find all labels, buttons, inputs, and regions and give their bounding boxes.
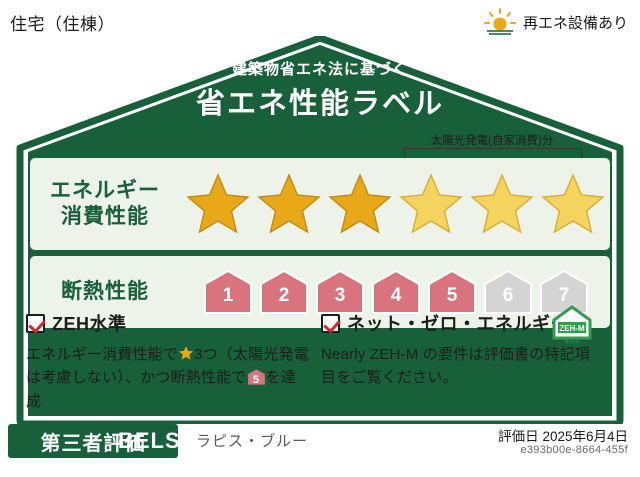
zeh-standard-body: エネルギー消費性能で3つ（太陽光発電は考慮しない）、かつ断熱性能で5を達成: [26, 343, 311, 413]
evaluation-date-value: 2025年6月4日: [542, 429, 628, 444]
check-icon: [26, 314, 45, 333]
grade-chip-2: 2: [258, 268, 310, 316]
net-zero-body-line2: 目をご覧ください。: [321, 366, 606, 389]
check-icon: [321, 314, 340, 333]
grade-chip-label: 5: [426, 285, 478, 307]
zeh-body-prefix: エネルギー消費性能で: [26, 346, 178, 363]
zeh-standard-title: ZEH水準: [52, 310, 127, 336]
grade-chip-6: 6: [482, 268, 534, 316]
star-icon-inline: [178, 345, 194, 361]
grade-chip-label: 4: [370, 285, 422, 307]
svg-text:ZEH-M: ZEH-M: [559, 324, 585, 333]
building-type-text: 住宅（住棟）: [10, 10, 115, 35]
solar-bracket-label: 太陽光発電(自家消費)分: [402, 132, 582, 148]
evaluation-id: e393b00e-8664-455f: [520, 444, 628, 456]
grade-chip-4: 4: [370, 268, 422, 316]
label-title: 省エネ性能ラベル: [8, 80, 632, 122]
energy-star-rating: [180, 170, 610, 238]
evaluation-date-label: 評価日: [498, 429, 539, 444]
solar-bracket: [404, 148, 582, 158]
zeh-m-logo-icon: ZEH-M Nearly: [550, 304, 594, 346]
energy-label-line2: 消費性能: [30, 204, 180, 230]
insulation-performance-label-text: 断熱性能: [30, 279, 180, 305]
zeh-body-mid: 3つ（太陽光発電: [194, 346, 309, 363]
grade-chip-label: 2: [258, 285, 310, 307]
zeh-standard-heading: ZEH水準: [26, 310, 311, 336]
grade-chip-label: 1: [202, 285, 254, 307]
net-zero-body: Nearly ZEH-M の要件は評価書の特記項 目をご覧ください。: [321, 343, 606, 390]
criteria-columns: ZEH水準 エネルギー消費性能で3つ（太陽光発電は考慮しない）、かつ断熱性能で5…: [26, 310, 616, 414]
insulation-grade-scale: 1 2 3 4: [180, 268, 610, 316]
grade-chip-3: 3: [314, 268, 366, 316]
zeh-body-mid2: は考慮しない）、かつ断熱性能で: [26, 369, 247, 386]
label-subtitle: 建築物省エネ法に基づく: [8, 58, 632, 79]
company-name: ラピス・ブルー: [196, 430, 308, 451]
star-icon-solar: [468, 170, 536, 238]
grade-badge-inline-label: 5: [247, 372, 266, 389]
star-icon-solar: [539, 170, 607, 238]
zeh-standard-column: ZEH水準 エネルギー消費性能で3つ（太陽光発電は考慮しない）、かつ断熱性能で5…: [26, 310, 321, 414]
svg-text:Nearly: Nearly: [565, 340, 580, 346]
energy-performance-label: 住宅（住棟） 再エネ設備あり: [0, 0, 640, 477]
grade-chip-label: 6: [482, 285, 534, 307]
net-zero-energy-column: ネット・ゼロ・エネルギー ZEH-M Nearly Nearly ZEH-M の…: [321, 310, 616, 414]
energy-label-line1: エネルギー: [30, 178, 180, 204]
solar-equipment-badge: 再エネ設備あり: [483, 8, 628, 36]
grade-badge-inline: 5: [247, 368, 266, 386]
net-zero-body-line1: Nearly ZEH-M の要件は評価書の特記項: [321, 343, 606, 366]
energy-performance-label-text: エネルギー 消費性能: [30, 178, 180, 231]
solar-badge-label: 再エネ設備あり: [523, 12, 628, 33]
grade-chip-1: 1: [202, 268, 254, 316]
bels-logo-text: BELS: [118, 424, 181, 458]
evaluation-date: 評価日 2025年6月4日: [498, 425, 628, 445]
star-icon: [184, 170, 252, 238]
star-icon: [255, 170, 323, 238]
sun-icon: [483, 8, 517, 36]
grade-chip-label: 3: [314, 285, 366, 307]
performance-panel: 太陽光発電(自家消費)分 エネルギー 消費性能: [30, 130, 610, 336]
net-zero-title: ネット・ゼロ・エネルギー: [347, 310, 569, 336]
energy-performance-row: エネルギー 消費性能: [30, 158, 610, 250]
star-icon-solar: [397, 170, 465, 238]
grade-chip-5: 5: [426, 268, 478, 316]
star-icon: [326, 170, 394, 238]
footer: 第三者評価 BELS ラピス・ブルー 評価日 2025年6月4日 e393b00…: [0, 424, 640, 477]
